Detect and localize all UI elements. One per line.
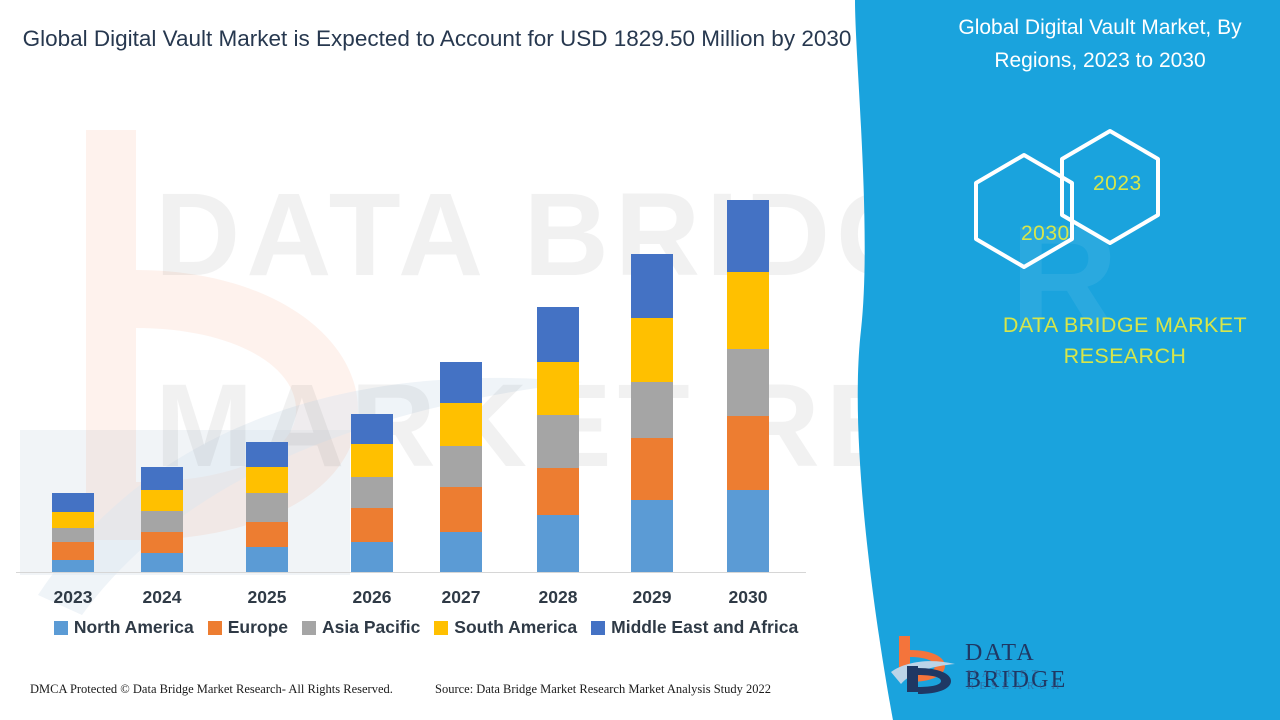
bar-segment	[631, 438, 673, 500]
bar-segment	[141, 511, 183, 532]
legend-item: North America	[54, 617, 194, 638]
bar-segment	[351, 542, 393, 572]
dbmr-logo-mark-icon	[885, 632, 961, 694]
bar-segment	[727, 349, 769, 416]
bar-segment	[631, 318, 673, 382]
x-tick-2028: 2028	[513, 587, 603, 608]
bar-segment	[537, 515, 579, 572]
bar-segment	[537, 307, 579, 362]
bar-column-2023	[52, 493, 94, 572]
legend-label: Asia Pacific	[322, 617, 420, 638]
bar-segment	[440, 532, 482, 572]
legend-swatch-icon	[302, 621, 316, 635]
x-tick-2029: 2029	[607, 587, 697, 608]
bar-segment	[351, 477, 393, 508]
bar-segment	[141, 490, 183, 511]
bar-segment	[246, 467, 288, 493]
bar-segment	[52, 542, 94, 560]
x-tick-2027: 2027	[416, 587, 506, 608]
bar-segment	[141, 532, 183, 553]
bar-segment	[537, 415, 579, 468]
bar-segment	[537, 468, 579, 515]
bar-segment	[246, 547, 288, 572]
panel-title: Global Digital Vault Market, By Regions,…	[930, 12, 1270, 77]
bar-segment	[246, 493, 288, 522]
bar-segment	[727, 490, 769, 572]
bar-segment	[440, 362, 482, 403]
x-tick-2026: 2026	[327, 587, 417, 608]
hexagon-badges	[965, 125, 1235, 285]
bar-segment	[351, 414, 393, 444]
bar-segment	[440, 487, 482, 532]
legend-item: Asia Pacific	[302, 617, 420, 638]
footer-copyright: DMCA Protected © Data Bridge Market Rese…	[30, 682, 393, 697]
bar-segment	[440, 446, 482, 487]
legend-label: South America	[454, 617, 577, 638]
bar-segment	[52, 528, 94, 543]
bar-segment	[141, 553, 183, 572]
x-tick-2024: 2024	[117, 587, 207, 608]
legend-label: Europe	[228, 617, 288, 638]
bar-segment	[727, 200, 769, 272]
bar-segment	[246, 442, 288, 467]
hexagon-2030-icon	[976, 155, 1072, 267]
bar-segment	[727, 416, 769, 490]
stacked-bar-chart: 20232024202520262027202820292030	[0, 0, 860, 600]
legend-swatch-icon	[434, 621, 448, 635]
x-tick-2030: 2030	[703, 587, 793, 608]
hexagon-label-2023: 2023	[1093, 172, 1142, 196]
legend-label: Middle East and Africa	[611, 617, 798, 638]
infographic-canvas: DATA BRIDGE MARKET RESEARCH Global Digit…	[0, 0, 1280, 720]
legend-item: Middle East and Africa	[591, 617, 798, 638]
bar-column-2027	[440, 362, 482, 572]
legend-swatch-icon	[208, 621, 222, 635]
bar-segment	[537, 362, 579, 415]
legend-item: Europe	[208, 617, 288, 638]
legend-label: North America	[74, 617, 194, 638]
bar-segment	[52, 493, 94, 512]
bar-segment	[727, 272, 769, 349]
bar-segment	[141, 467, 183, 490]
legend-swatch-icon	[591, 621, 605, 635]
bar-segment	[440, 403, 482, 446]
bar-segment	[631, 382, 673, 438]
chart-plot-area	[0, 0, 860, 600]
dbmr-logo-subtitle: MARKET RESEARCH	[967, 668, 1115, 692]
bar-segment	[351, 508, 393, 542]
bar-column-2029	[631, 254, 673, 572]
x-tick-2023: 2023	[28, 587, 118, 608]
bar-column-2030	[727, 200, 769, 572]
dbmr-logo: DATA BRIDGE MARKET RESEARCH	[885, 632, 1115, 694]
bar-segment	[52, 512, 94, 528]
panel-brand-text: DATA BRIDGE MARKET RESEARCH	[955, 310, 1280, 372]
legend-item: South America	[434, 617, 577, 638]
bar-segment	[246, 522, 288, 547]
bar-column-2025	[246, 442, 288, 572]
x-tick-2025: 2025	[222, 587, 312, 608]
bar-column-2028	[537, 307, 579, 572]
hexagon-label-2030: 2030	[1021, 222, 1070, 246]
bar-column-2024	[141, 467, 183, 572]
bar-segment	[631, 254, 673, 318]
bar-column-2026	[351, 414, 393, 572]
bar-segment	[631, 500, 673, 572]
bar-segment	[351, 444, 393, 477]
footer-source: Source: Data Bridge Market Research Mark…	[435, 682, 771, 697]
footer: DMCA Protected © Data Bridge Market Rese…	[0, 682, 860, 712]
x-axis-line	[16, 572, 806, 573]
x-axis-tick-labels: 20232024202520262027202820292030	[0, 587, 860, 613]
chart-legend: North AmericaEuropeAsia PacificSouth Ame…	[0, 617, 852, 638]
bar-segment	[52, 560, 94, 572]
legend-swatch-icon	[54, 621, 68, 635]
